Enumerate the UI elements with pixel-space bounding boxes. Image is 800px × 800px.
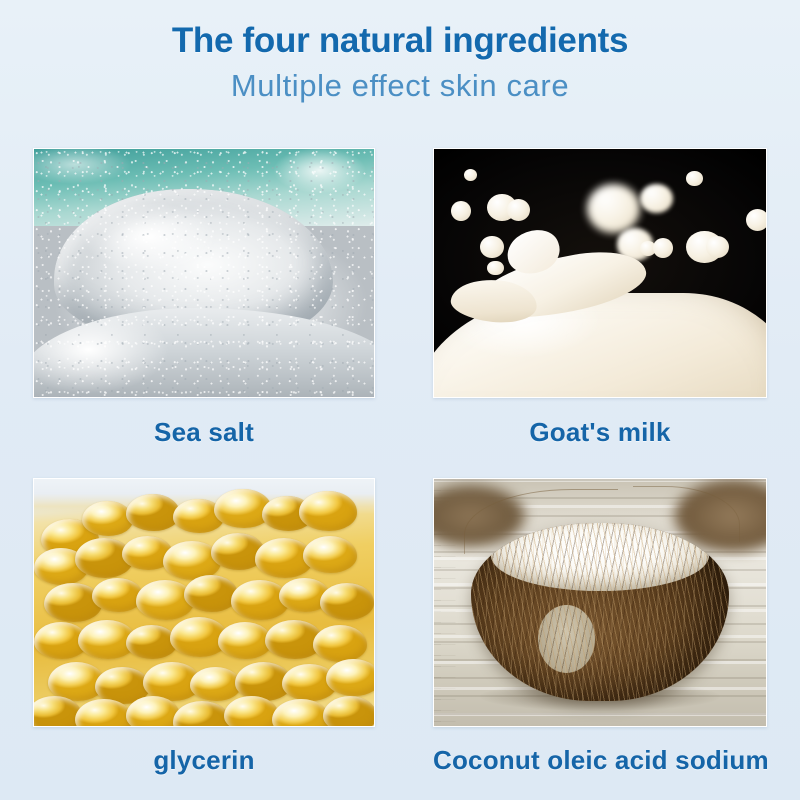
gel-capsule — [299, 491, 357, 531]
gel-capsule — [126, 625, 177, 660]
sea-salt-photo — [33, 148, 375, 398]
ingredient-caption: Sea salt — [33, 417, 375, 448]
header: The four natural ingredients Multiple ef… — [0, 0, 800, 106]
glycerin-photo — [33, 478, 375, 727]
coconut-husk-fibers — [471, 523, 730, 701]
milk-droplet — [464, 169, 477, 181]
milk-droplet — [653, 238, 673, 258]
ingredient-card-goats-milk: Goat's milk — [433, 148, 767, 448]
coconut-photo — [433, 478, 767, 727]
gel-capsule — [303, 536, 357, 573]
gel-capsule — [82, 501, 133, 536]
milk-droplet — [686, 171, 703, 186]
milk-droplet — [451, 201, 471, 221]
gel-capsule — [126, 494, 180, 531]
milk-droplet — [746, 209, 767, 231]
gel-capsule — [272, 699, 330, 727]
milk-droplet — [507, 199, 530, 221]
ingredient-card-sea-salt: Sea salt — [33, 148, 375, 448]
ingredient-card-glycerin: glycerin — [33, 478, 375, 776]
infographic-page: The four natural ingredients Multiple ef… — [0, 0, 800, 800]
gel-capsule — [184, 575, 238, 612]
gel-capsule — [313, 625, 367, 662]
gel-capsule — [320, 583, 374, 620]
gel-capsule — [126, 696, 180, 727]
page-subtitle: Multiple effect skin care — [0, 67, 800, 106]
ingredient-card-coconut: Coconut oleic acid sodium — [433, 478, 767, 776]
gel-capsule — [173, 701, 231, 727]
milk-droplet — [587, 184, 640, 234]
milk-droplet — [480, 236, 503, 258]
ingredient-grid: Sea salt — [33, 148, 767, 768]
gel-capsule — [218, 622, 272, 659]
gel-capsule — [326, 659, 375, 696]
ingredient-caption: glycerin — [33, 745, 375, 776]
ingredient-caption: Goat's milk — [433, 417, 767, 448]
page-title: The four natural ingredients — [0, 22, 800, 60]
gel-capsule — [323, 696, 375, 727]
gel-capsule — [224, 696, 278, 727]
milk-droplet — [487, 261, 504, 276]
milk-droplet — [640, 184, 673, 214]
salt-crystal-texture — [34, 149, 374, 397]
ingredient-caption: Coconut oleic acid sodium — [433, 745, 767, 776]
coconut-half-shell — [471, 523, 730, 701]
goats-milk-photo — [433, 148, 767, 398]
milk-droplet — [706, 236, 729, 258]
gel-capsule — [92, 578, 143, 613]
gel-capsule — [190, 667, 241, 702]
